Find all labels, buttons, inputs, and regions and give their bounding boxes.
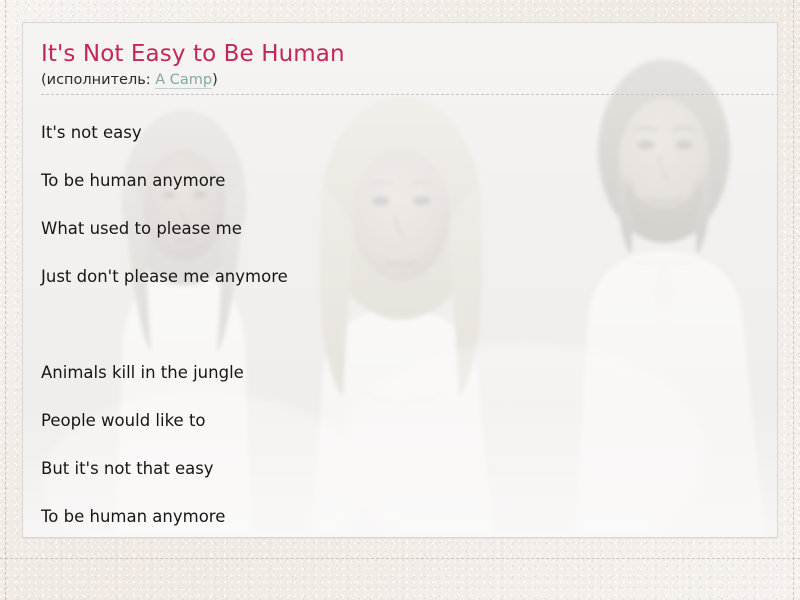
lyric-line: Animals kill in the jungle <box>41 349 757 397</box>
header-separator <box>41 94 778 95</box>
lyric-line: To be human anymore <box>41 493 757 538</box>
lyrics-card: It's Not Easy to Be Human (исполнитель: … <box>22 22 778 538</box>
lyric-line: But it's not that easy <box>41 445 757 493</box>
page-title: It's Not Easy to Be Human <box>41 39 757 69</box>
lyrics-body: It's not easy To be human anymore What u… <box>41 109 757 538</box>
byline-prefix: (исполнитель: <box>41 72 155 88</box>
lyric-line: It's not easy <box>41 109 757 157</box>
page-rule-right <box>793 0 794 600</box>
lyric-line: To be human anymore <box>41 157 757 205</box>
page-rule-bottom <box>0 558 800 559</box>
byline-suffix: ) <box>212 72 218 88</box>
lyric-stanza-gap <box>41 301 757 349</box>
page-rule-left <box>5 0 6 600</box>
artist-link[interactable]: A Camp <box>155 72 212 89</box>
lyric-line: People would like to <box>41 397 757 445</box>
artist-byline: (исполнитель: A Camp) <box>41 70 757 90</box>
lyric-line: What used to please me <box>41 205 757 253</box>
lyric-line: Just don't please me anymore <box>41 253 757 301</box>
